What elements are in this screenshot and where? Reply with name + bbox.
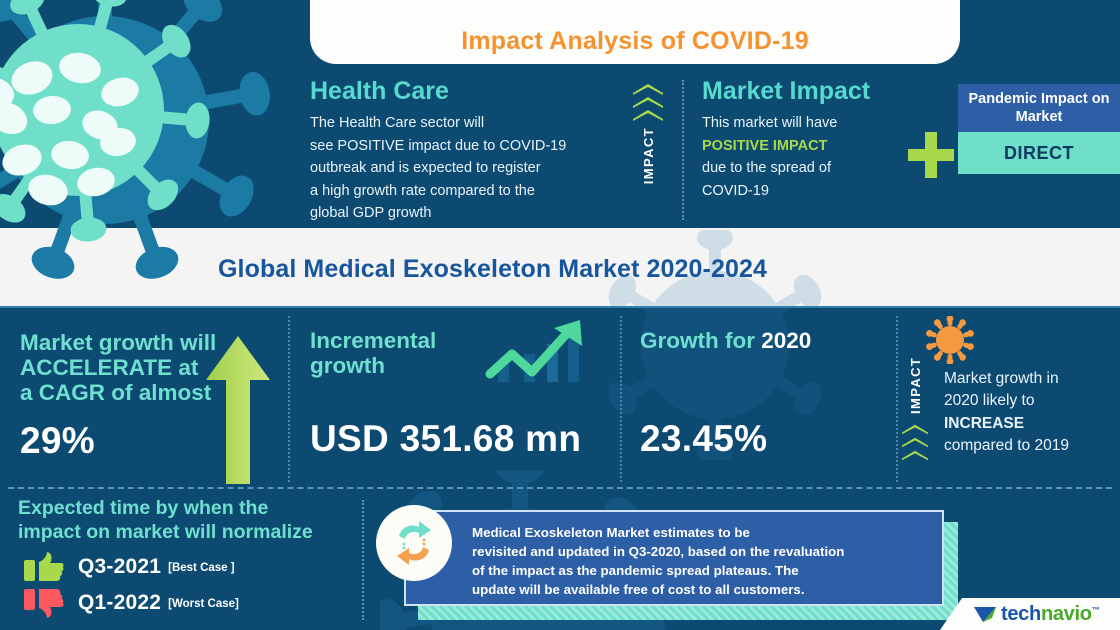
cagr-value: 29% — [20, 420, 95, 462]
normalize-heading-line-1: Expected time by when the — [18, 496, 368, 520]
pandemic-impact-title: Pandemic Impact on Market — [958, 90, 1120, 126]
header-impact-marker: IMPACT — [628, 84, 668, 219]
market-impact-line-4: COVID-19 — [702, 180, 952, 202]
health-care-line-4: a high growth rate compared to the — [310, 180, 620, 202]
health-care-line-3: outbreak and is expected to register — [310, 157, 620, 179]
cagr-line-1: Market growth will — [20, 330, 220, 355]
health-care-heading: Health Care — [310, 78, 620, 104]
stat-impact-marker: IMPACT — [898, 352, 932, 482]
plus-icon — [908, 132, 954, 178]
normalize-quarter-worst: Q1-2022 — [78, 591, 161, 614]
health-care-column: Health Care The Health Care sector will … — [310, 78, 620, 225]
note-line-2: revisited and updated in Q3-2020, based … — [472, 543, 928, 562]
stat-growth-2020: Growth for 2020 23.45% — [622, 308, 896, 490]
pandemic-impact-value-box: DIRECT — [958, 132, 1120, 174]
health-care-line-5: global GDP growth — [310, 202, 620, 224]
normalize-heading: Expected time by when the impact on mark… — [18, 496, 368, 545]
normalize-row-best: Q3-2021[Best Case ] — [24, 552, 235, 582]
normalize-row-worst: Q1-2022[Worst Case] — [24, 588, 239, 618]
growth-2020-label-teal: Growth for — [640, 328, 761, 353]
cagr-line-3: a CAGR of almost — [20, 380, 220, 405]
logo-part-navio: navio — [1041, 603, 1092, 625]
chevron-up-icon — [633, 97, 663, 108]
growth-chart-icon — [484, 316, 588, 382]
page-title: Impact Analysis of COVID-19 — [461, 27, 809, 56]
health-care-line-2: see POSITIVE impact due to COVID-19 — [310, 135, 620, 157]
normalize-heading-line-2: impact on market will normalize — [18, 520, 368, 544]
logo-trademark: ™ — [1092, 605, 1100, 614]
up-arrow-icon — [206, 336, 270, 484]
incremental-value: USD 351.68 mn — [310, 418, 581, 460]
stats-divider-1 — [288, 316, 290, 482]
chevron-up-icon — [633, 110, 663, 121]
note-line-4: update will be available free of cost to… — [472, 581, 928, 600]
impact-2020-line-2: 2020 likely to — [944, 390, 1120, 412]
refresh-cycle-icon — [389, 518, 439, 568]
virus-icon — [926, 316, 974, 364]
header-divider — [682, 80, 684, 220]
note-box: Medical Exoskeleton Market estimates to … — [404, 510, 944, 606]
normalize-quarter-best: Q3-2021 — [78, 555, 161, 578]
technavio-arrow-icon — [974, 604, 996, 624]
pandemic-impact-value: DIRECT — [1004, 143, 1074, 164]
normalize-case-best: [Best Case ] — [168, 562, 234, 574]
thumbs-down-icon — [24, 588, 64, 618]
thumbs-up-icon — [24, 552, 64, 582]
bottom-divider — [362, 500, 364, 620]
technavio-logo[interactable]: technavio™ — [940, 598, 1120, 630]
health-care-body: The Health Care sector will see POSITIVE… — [310, 112, 620, 224]
pandemic-impact-title-box: Pandemic Impact on Market — [958, 84, 1120, 132]
infographic-page: Impact Analysis of COVID-19 Health Care … — [0, 0, 1120, 630]
chevron-up-icon — [902, 450, 928, 461]
chevron-up-icon — [633, 84, 663, 95]
incremental-line-1: Incremental — [310, 328, 490, 353]
growth-2020-label-year: 2020 — [761, 328, 811, 353]
header-title-card: Impact Analysis of COVID-19 — [310, 0, 960, 64]
cagr-line-2: ACCELERATE at — [20, 355, 220, 380]
impact-label: IMPACT — [641, 127, 656, 184]
logo-part-tech: tech — [1001, 603, 1041, 625]
report-title: Global Medical Exoskeleton Market 2020-2… — [218, 255, 767, 284]
growth-2020-value: 23.45% — [640, 418, 767, 460]
health-care-line-1: The Health Care sector will — [310, 112, 620, 134]
chevron-up-icon — [902, 437, 928, 448]
note-line-3: of the impact as the pandemic spread pla… — [472, 562, 928, 581]
impact-2020-line-4: compared to 2019 — [944, 435, 1120, 457]
impact-2020-line-3: INCREASE — [944, 413, 1120, 435]
chevron-up-icon — [902, 424, 928, 435]
note-line-1: Medical Exoskeleton Market estimates to … — [472, 524, 928, 543]
technavio-wordmark: technavio™ — [1001, 603, 1099, 626]
market-impact-heading: Market Impact — [702, 78, 952, 104]
impact-2020-line-1: Market growth in — [944, 368, 1120, 390]
impact-label-stat: IMPACT — [908, 352, 923, 418]
note-icon-circle — [376, 505, 452, 581]
normalize-case-worst: [Worst Case] — [168, 598, 239, 610]
incremental-line-2: growth — [310, 353, 490, 378]
